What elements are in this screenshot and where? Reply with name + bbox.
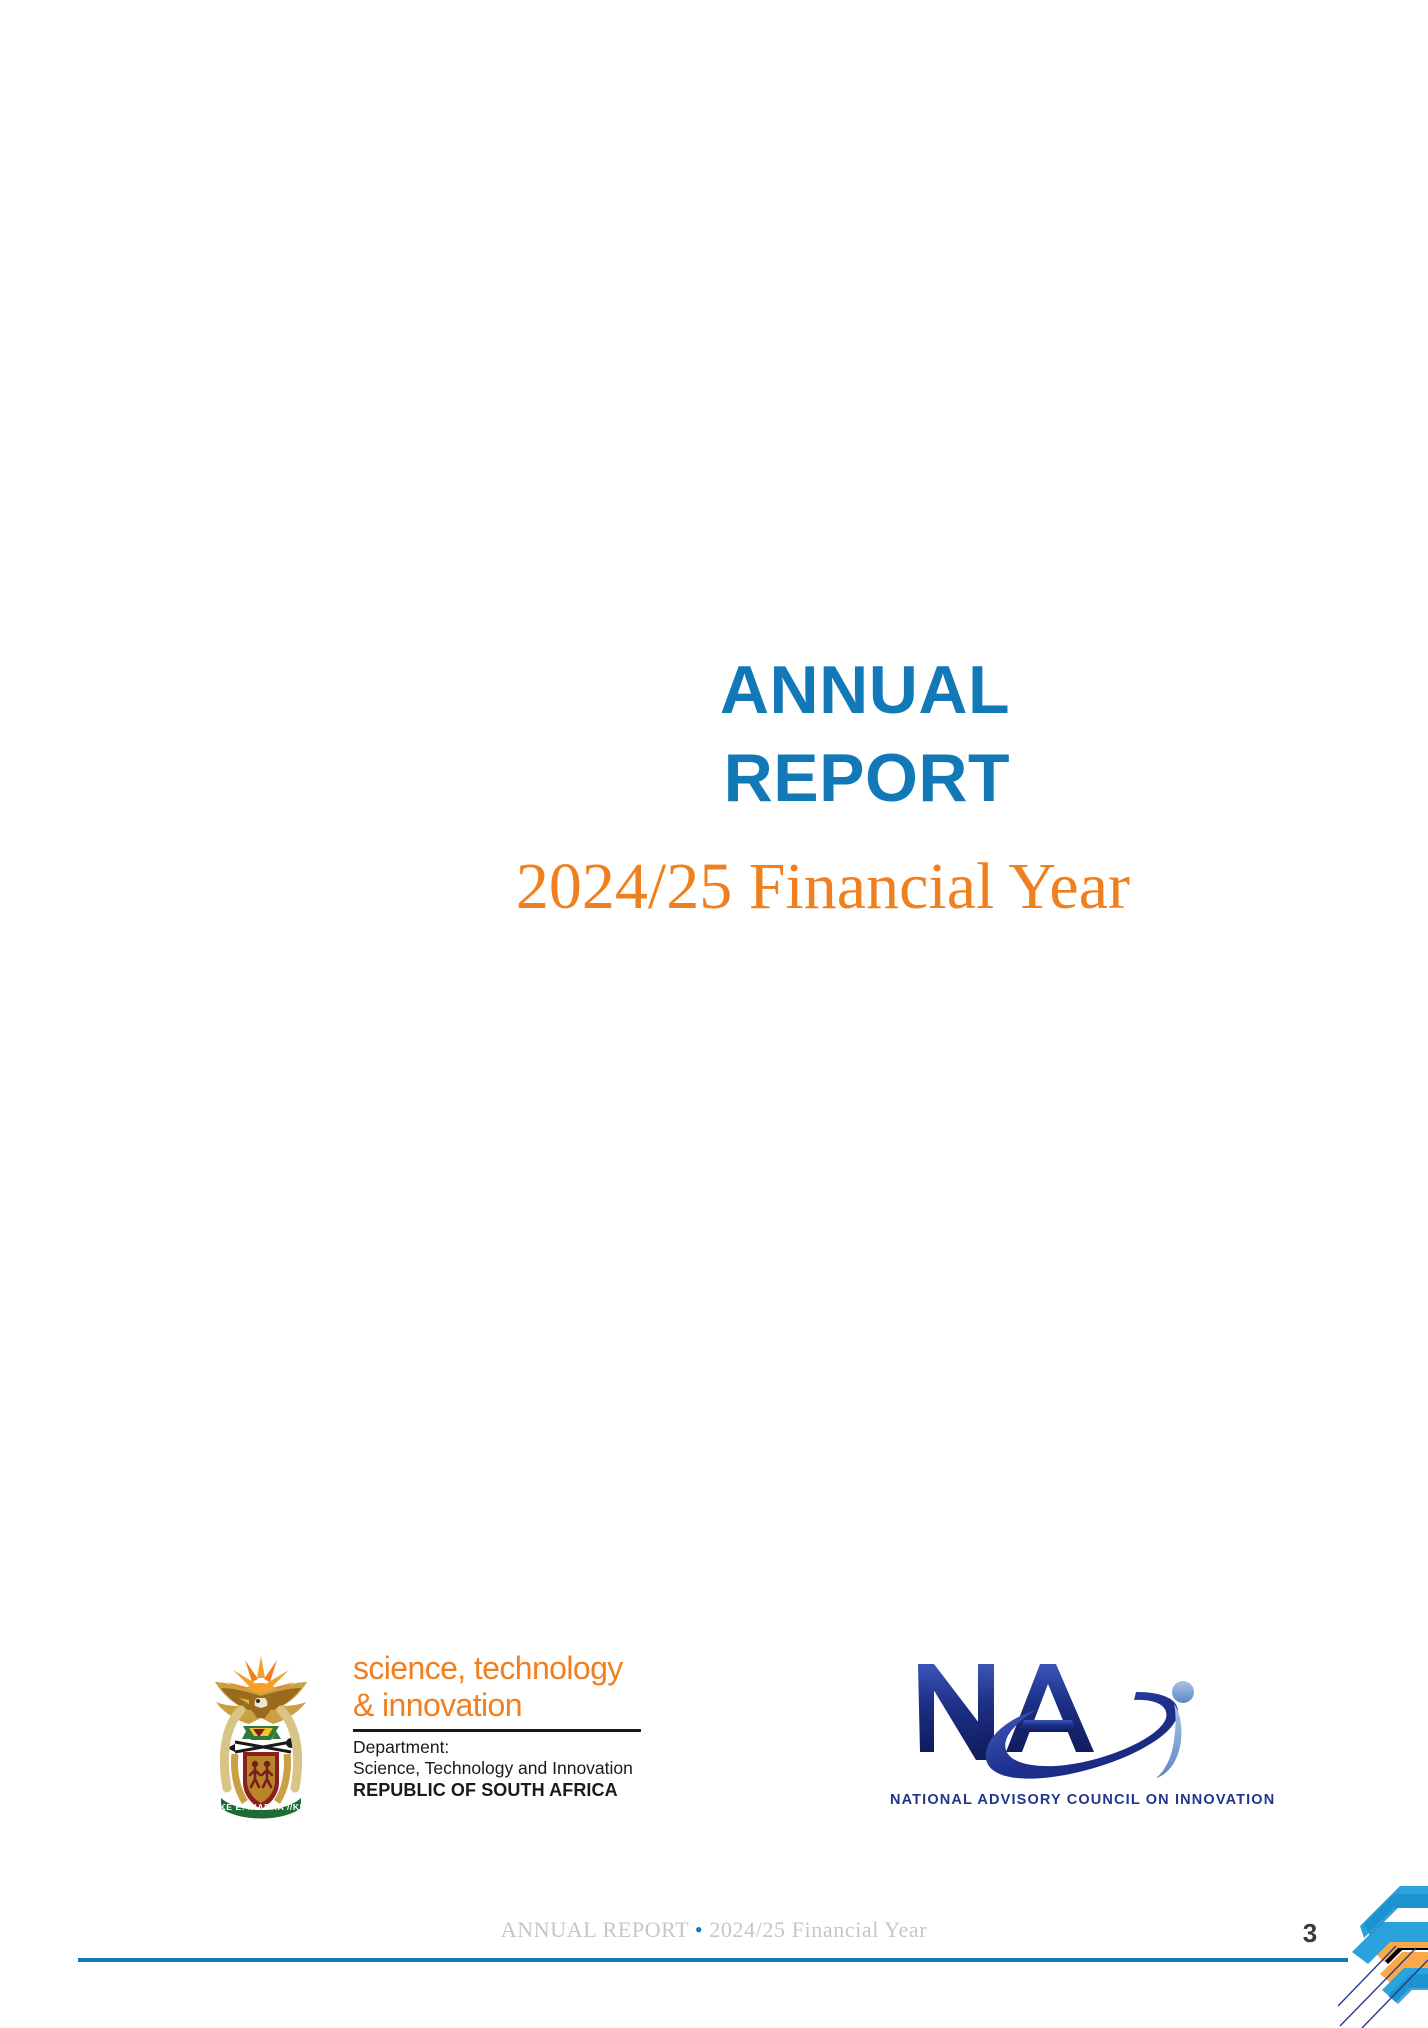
south-african-coat-of-arms-icon: !KE E: /XARRA //KE <box>205 1648 317 1820</box>
report-subtitle-block: 2024/25 Financial Year <box>0 848 1130 926</box>
report-subtitle: 2024/25 Financial Year <box>0 848 1130 926</box>
footer-bullet-icon: • <box>695 1917 703 1942</box>
report-title-block: ANNUAL REPORT <box>0 646 1010 822</box>
dsti-brand-line-2: & innovation <box>353 1687 678 1724</box>
footer-report-label: ANNUAL REPORT <box>501 1917 689 1942</box>
dsti-divider <box>353 1729 641 1732</box>
title-line-annual: ANNUAL <box>0 646 1010 734</box>
dsti-wordmark: science, technology & innovation Departm… <box>353 1650 678 1802</box>
footer-divider <box>78 1958 1348 1962</box>
dsti-department-name: Science, Technology and Innovation <box>353 1758 678 1779</box>
footer-year-label: 2024/25 Financial Year <box>709 1917 927 1942</box>
corner-ribbon-decoration-icon <box>1338 1878 1428 2028</box>
naci-tagline: NATIONAL ADVISORY COUNCIL ON INNOVATION <box>890 1792 1210 1808</box>
dsti-department-label: Department: <box>353 1737 678 1758</box>
naci-logo: NATIONAL ADVISORY COUNCIL ON INNOVATION <box>890 1640 1210 1830</box>
title-page: ANNUAL REPORT 2024/25 Financial Year <box>0 0 1428 2028</box>
footer-caption: ANNUAL REPORT • 2024/25 Financial Year <box>0 1917 1428 1943</box>
title-line-report: REPORT <box>0 734 1010 822</box>
dsti-logo: !KE E: /XARRA //KE science, technology &… <box>205 1640 675 1830</box>
svg-text:!KE E: /XARRA //KE: !KE E: /XARRA //KE <box>216 1802 306 1812</box>
dsti-brand-line-1: science, technology <box>353 1650 678 1687</box>
dsti-country-label: REPUBLIC OF SOUTH AFRICA <box>353 1779 678 1802</box>
page-number: 3 <box>1290 1918 1330 1949</box>
naci-wordmark-icon <box>890 1642 1210 1802</box>
logo-row: !KE E: /XARRA //KE science, technology &… <box>0 1640 1428 1840</box>
